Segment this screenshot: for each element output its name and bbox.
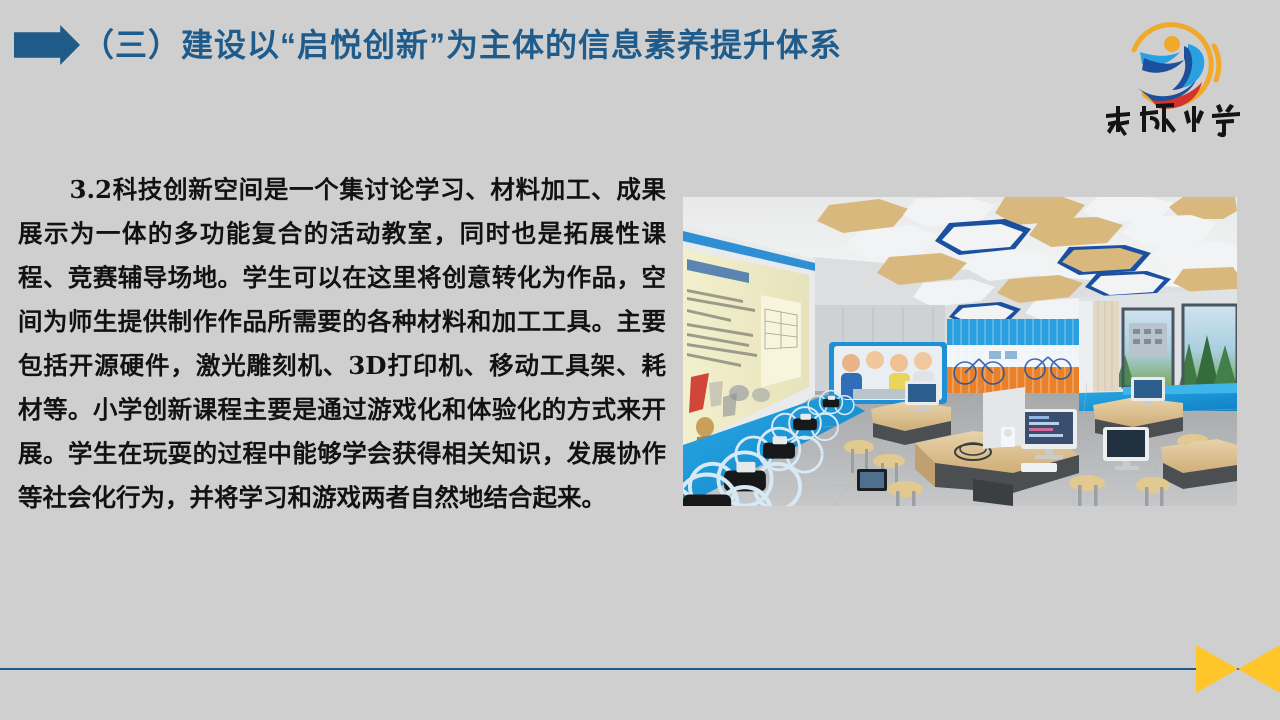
bowtie-left-triangle xyxy=(1196,645,1238,693)
page-title: （三）建设以“启悦创新”为主体的信息素养提升体系 xyxy=(82,20,842,66)
body-paragraph: 3.2科技创新空间是一个集讨论学习、材料加工、成果展示为一体的多功能复合的活动教… xyxy=(18,168,666,520)
bowtie-right-triangle xyxy=(1238,645,1280,693)
bowtie-arrow-icon xyxy=(1196,645,1280,693)
footer-divider xyxy=(0,668,1280,670)
classroom-rendering-image xyxy=(683,197,1237,506)
slide-header: （三）建设以“启悦创新”为主体的信息素养提升体系 xyxy=(0,0,1280,150)
arrow-right-icon xyxy=(14,25,80,65)
presentation-slide: （三）建设以“启悦创新”为主体的信息素养提升体系 xyxy=(0,0,1280,720)
school-logo xyxy=(1096,8,1266,138)
